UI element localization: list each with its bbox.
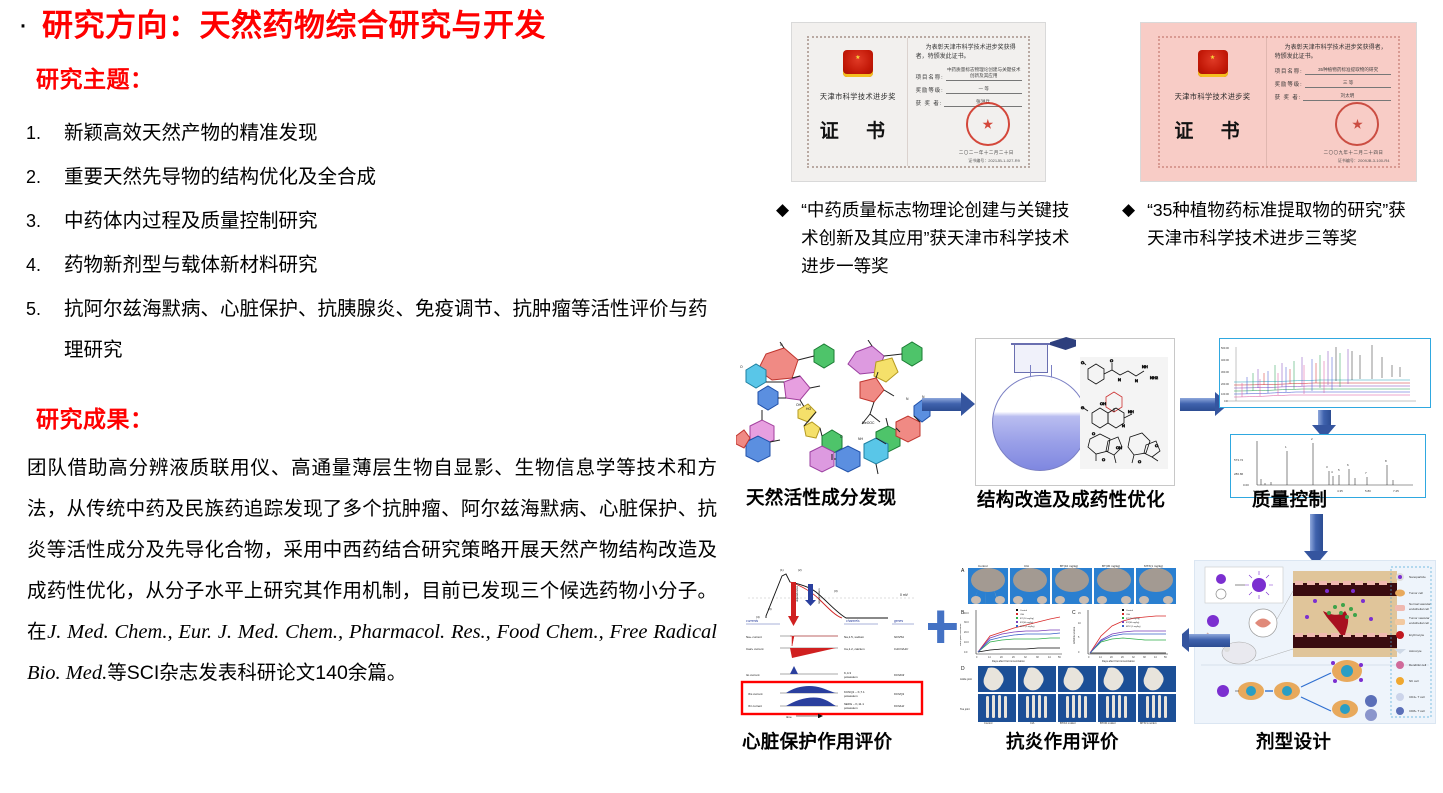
- field-value: 35种植物药标准提取物的研究: [1305, 67, 1392, 75]
- certificate-field: 获 奖 者: 张洪兵: [916, 99, 1022, 107]
- arrow-down-icon: [1318, 410, 1331, 426]
- svg-text:potassium: potassium: [844, 706, 858, 710]
- research-topics-heading: 研究主题：: [36, 60, 154, 94]
- svg-text:100.00: 100.00: [1221, 392, 1229, 396]
- list-item: 3. 中药体内过程及质量控制研究: [24, 201, 714, 242]
- certificate-header-text: 为表彰天津市科学技术进步奖获得者，特颁发此证书。: [916, 44, 1022, 62]
- list-item-label: 药物新剂型与载体新材料研究: [64, 245, 714, 286]
- cardiac-action-potential-graphic: 0 mV (1)(2)(0)(3)(4) depolarization repo…: [738, 562, 926, 718]
- svg-text:Control: Control: [978, 564, 988, 568]
- field-label: 获 奖 者:: [1275, 93, 1302, 101]
- svg-text:CIA: CIA: [1126, 613, 1130, 616]
- svg-text:14: 14: [988, 656, 991, 659]
- nanoparticle-delivery-graphic: NanoparticleTumor cell Normal vascularen…: [1195, 561, 1435, 723]
- svg-text:CIA: CIA: [1030, 721, 1035, 724]
- research-workflow-diagram: OOHO OHONH MeOOCNN 天然活性成分发现 ⇒: [732, 336, 1443, 786]
- svg-text:Control: Control: [984, 721, 993, 724]
- title-bullet-icon: ·: [18, 8, 28, 42]
- svg-text:0: 0: [1078, 651, 1080, 654]
- svg-text:MTX (1 mg/kg): MTX (1 mg/kg): [1020, 626, 1035, 628]
- svg-text:N: N: [1122, 423, 1125, 428]
- chromatogram-overlay-chart: 500.00400.00300.00200.00100.000.0: [1220, 339, 1429, 406]
- list-item-number: 5.: [24, 289, 64, 329]
- svg-text:500.00: 500.00: [1221, 346, 1229, 350]
- svg-text:Dendritic cell: Dendritic cell: [1409, 663, 1427, 667]
- svg-text:N: N: [1118, 377, 1121, 382]
- certificate-org-name: 天津市科学技术进步奖: [809, 92, 906, 102]
- svg-text:endothelial cell: endothelial cell: [1409, 607, 1429, 611]
- svg-text:56: 56: [1164, 656, 1167, 659]
- svg-text:0: 0: [976, 656, 978, 659]
- certificate-title-text: 证 书: [1160, 116, 1266, 143]
- svg-text:0: 0: [1088, 656, 1090, 659]
- chemical-structures-graphic: O O N N NH NH2 OH N O: [1080, 357, 1168, 469]
- field-value: 刘太明: [1303, 93, 1391, 101]
- certificate-caption-second: ◆ “35种植物药标准提取物的研究”获天津市科学技术进步三等奖: [1122, 196, 1422, 252]
- svg-text:BT(30 mg/kg): BT(30 mg/kg): [1020, 622, 1034, 624]
- page-title: 研究方向：天然药物综合研究与开发: [42, 8, 546, 44]
- award-certificate-third-prize: 天津市科学技术进步奖 证 书 为表彰天津市科学技术进步奖获得者，特颁发此证书。 …: [1140, 22, 1417, 182]
- official-seal-icon: [966, 102, 1010, 146]
- list-item: 2. 重要天然先导物的结构优化及全合成: [24, 157, 714, 198]
- research-results-paragraph: 团队借助高分辨液质联用仪、高通量薄层生物自显影、生物信息学等技术和方法，从传统中…: [27, 448, 717, 694]
- slide-root: · 研究方向：天然药物综合研究与开发 研究主题： 1. 新颖高效天然产物的精准发…: [0, 0, 1443, 793]
- svg-text:10: 10: [1078, 622, 1081, 625]
- svg-text:O: O: [840, 435, 843, 439]
- svg-text:Toe joint: Toe joint: [960, 707, 970, 711]
- svg-text:BT(10 mg/kg): BT(10 mg/kg): [1060, 564, 1078, 568]
- svg-text:MTX(1 mg/kg): MTX(1 mg/kg): [1144, 564, 1163, 568]
- svg-text:NH2: NH2: [1150, 375, 1159, 380]
- svg-text:32: 32: [1132, 656, 1135, 659]
- svg-text:BT (10 mg/kg): BT (10 mg/kg): [1126, 618, 1140, 620]
- svg-text:Control: Control: [1126, 609, 1134, 612]
- svg-text:(2): (2): [798, 568, 802, 572]
- svg-text:currents: currents: [746, 619, 759, 623]
- certificate-field: 获 奖 者: 刘太明: [1275, 93, 1392, 101]
- svg-text:Na,1.5, sodium: Na,1.5, sodium: [844, 635, 865, 639]
- svg-text:repolarization: repolarization: [817, 588, 821, 604]
- svg-text:O: O: [1092, 431, 1095, 436]
- svg-text:BT(10 mg/kg): BT(10 mg/kg): [1060, 721, 1076, 724]
- field-label: 项目名称:: [916, 73, 944, 81]
- list-item: 1. 新颖高效天然产物的精准发现: [24, 113, 714, 154]
- svg-text:6: 6: [1347, 463, 1349, 467]
- svg-text:5.80: 5.80: [1365, 489, 1371, 493]
- svg-text:CIA: CIA: [1020, 613, 1024, 616]
- svg-text:7: 7: [1365, 471, 1367, 475]
- certificate-field: 项目名称: 中药质量标志物理论创建与关键技术创新及其应用: [916, 67, 1022, 81]
- certificate-number: 证书编号：2021JB-1-027-R9: [968, 158, 1020, 164]
- svg-text:NH: NH: [1142, 364, 1148, 369]
- svg-text:KCND3: KCND3: [894, 673, 905, 677]
- anti-inflammatory-evaluation-panel: A: [960, 564, 1182, 724]
- svg-text:7.25: 7.25: [1393, 489, 1399, 493]
- svg-text:O: O: [1081, 360, 1084, 365]
- svg-text:3: 3: [1326, 465, 1328, 469]
- certificate-caption-first: ◆ “中药质量标志物理论创建与关键技术创新及其应用”获天津市科学技术进步一等奖: [776, 196, 1081, 280]
- anti-inflammatory-graphic: A: [960, 564, 1180, 724]
- svg-text:D: D: [961, 666, 965, 672]
- molecular-structures-graphic: OOHO OHONH MeOOCNN: [736, 340, 954, 482]
- research-topics-list: 1. 新颖高效天然产物的精准发现 2. 重要天然先导物的结构优化及全合成 3. …: [24, 113, 714, 374]
- svg-text:32: 32: [1024, 656, 1027, 659]
- label-natural-active-ingredient-discovery: 天然活性成分发现: [746, 484, 896, 510]
- svg-text:CD8+ T cell: CD8+ T cell: [1409, 709, 1425, 713]
- field-value: 一 等: [946, 86, 1022, 94]
- svg-text:time: time: [786, 715, 792, 718]
- certificate-field: 项目名称: 35种植物药标准提取物的研究: [1275, 67, 1392, 75]
- svg-text:MTX(1 mg/kg): MTX(1 mg/kg): [1140, 721, 1157, 724]
- svg-text:N: N: [1135, 378, 1138, 383]
- tlc-chromatogram-overlay-panel: 500.00400.00300.00200.00100.000.0: [1219, 338, 1431, 408]
- svg-text:400.00: 400.00: [1221, 358, 1229, 362]
- list-item-label: 新颖高效天然产物的精准发现: [64, 113, 714, 154]
- arrow-right-icon: [922, 398, 962, 411]
- svg-text:0.00: 0.00: [1243, 483, 1249, 487]
- svg-text:8: 8: [1385, 459, 1387, 463]
- svg-text:potassium: potassium: [844, 694, 858, 698]
- svg-text:Days after first immunization: Days after first immunization: [992, 659, 1025, 663]
- svg-text:Hind paw thickness: Hind paw thickness: [960, 623, 962, 646]
- svg-text:OH: OH: [1100, 401, 1106, 406]
- svg-text:26: 26: [1012, 656, 1015, 659]
- round-flask-icon: [992, 375, 1088, 471]
- certificate-org-name: 天津市科学技术进步奖: [1160, 92, 1266, 102]
- svg-text:44: 44: [1048, 656, 1051, 659]
- svg-text:BT(30 mg/kg): BT(30 mg/kg): [1126, 622, 1140, 624]
- svg-text:BT(30 mg/kg): BT(30 mg/kg): [1100, 721, 1116, 724]
- svg-text:(3): (3): [834, 589, 838, 593]
- svg-text:depolarization: depolarization: [795, 585, 799, 602]
- svg-text:O: O: [1081, 405, 1084, 410]
- dosage-form-design-panel: NanoparticleTumor cell Normal vascularen…: [1194, 560, 1436, 724]
- svg-text:Na+ current: Na+ current: [746, 635, 762, 639]
- svg-text:O: O: [1110, 358, 1113, 363]
- national-emblem-icon: [843, 50, 873, 77]
- dropper-icon: [1050, 337, 1076, 350]
- svg-text:IKs current: IKs current: [748, 692, 763, 696]
- label-quality-control: 质量控制: [1252, 486, 1327, 512]
- svg-text:genes: genes: [894, 619, 904, 623]
- certificate-number: 证书编号：2009JB-3-100-R4: [1338, 158, 1390, 164]
- svg-text:NH: NH: [1128, 409, 1134, 414]
- svg-text:Days after first immunization: Days after first immunization: [1102, 659, 1135, 663]
- arrow-left-icon: [1188, 634, 1230, 647]
- svg-text:44: 44: [1154, 656, 1157, 659]
- list-item-number: 1.: [24, 113, 64, 153]
- cardioprotection-evaluation-panel: 0 mV (1)(2)(0)(3)(4) depolarization repo…: [738, 562, 928, 720]
- svg-text:N: N: [906, 397, 909, 401]
- svg-text:BT(30 mg/kg): BT(30 mg/kg): [1102, 564, 1120, 568]
- svg-text:26: 26: [1121, 656, 1124, 659]
- svg-text:NH: NH: [858, 437, 863, 441]
- svg-text:40.0: 40.0: [964, 612, 969, 615]
- svg-text:channels: channels: [846, 619, 860, 623]
- svg-text:(0): (0): [768, 607, 772, 611]
- svg-text:300.00: 300.00: [1221, 370, 1229, 374]
- label-cardioprotection-evaluation: 心脏保护作用评价: [742, 728, 892, 754]
- svg-text:O: O: [740, 365, 743, 369]
- list-item-number: 3.: [24, 201, 64, 241]
- field-label: 获 奖 者:: [916, 99, 943, 107]
- label-structure-modification-optimization: 结构改造及成药性优化: [977, 486, 1165, 512]
- list-item: 5. 抗阿尔兹海默病、心脏保护、抗胰腺炎、免疫调节、抗肿瘤等活性评价与药理研究: [24, 289, 714, 371]
- svg-text:14: 14: [1099, 656, 1102, 659]
- slide-title-row: · 研究方向：天然药物综合研究与开发: [18, 8, 546, 44]
- svg-text:5: 5: [1338, 468, 1340, 472]
- field-label: 项目名称:: [1275, 67, 1303, 75]
- svg-text:0.0: 0.0: [1224, 399, 1228, 403]
- certificate-title-text: 证 书: [809, 116, 906, 143]
- certificate-date: 二〇〇九年十二月二十四日: [1324, 150, 1384, 156]
- list-item-label: 重要天然先导物的结构优化及全合成: [64, 157, 714, 198]
- svg-text:20.0: 20.0: [964, 631, 969, 634]
- svg-text:OH: OH: [1116, 445, 1122, 450]
- svg-text:IKr current: IKr current: [748, 704, 762, 708]
- svg-text:0.0: 0.0: [964, 651, 968, 654]
- svg-text:C: C: [1072, 610, 1076, 616]
- svg-text:286.86: 286.86: [1234, 472, 1244, 476]
- svg-text:NK cell: NK cell: [1409, 679, 1419, 683]
- caption-text: “35种植物药标准提取物的研究”获天津市科学技术进步三等奖: [1147, 196, 1422, 252]
- certificate-header-text: 为表彰天津市科学技术进步奖获得者，特颁发此证书。: [1275, 44, 1392, 62]
- svg-text:SCN5A: SCN5A: [894, 635, 904, 639]
- svg-text:56: 56: [1058, 656, 1061, 659]
- svg-text:20: 20: [1000, 656, 1003, 659]
- svg-text:1: 1: [1285, 445, 1287, 449]
- results-text-part2: 等SCI杂志发表科研论文140余篇。: [107, 662, 406, 684]
- svg-text:573.72: 573.72: [1234, 458, 1244, 462]
- svg-text:4.35: 4.35: [1337, 489, 1343, 493]
- svg-text:20: 20: [1110, 656, 1113, 659]
- svg-text:Ito current: Ito current: [746, 673, 760, 677]
- svg-text:0 mV: 0 mV: [900, 593, 909, 597]
- field-label: 奖励等级:: [916, 86, 944, 94]
- national-emblem-icon: [1198, 50, 1228, 77]
- svg-text:Tumor cell: Tumor cell: [1409, 591, 1423, 595]
- svg-text:KCNH2: KCNH2: [894, 704, 905, 708]
- list-item-number: 2.: [24, 157, 64, 197]
- svg-text:KCNQ1: KCNQ1: [894, 692, 905, 696]
- svg-text:BT (10 mg/kg): BT (10 mg/kg): [1020, 618, 1034, 620]
- research-results-heading: 研究成果：: [36, 400, 154, 434]
- svg-text:CACNA1C: CACNA1C: [894, 647, 909, 651]
- svg-text:MTX (1 mg/kg): MTX (1 mg/kg): [1126, 626, 1141, 628]
- chemical-structures-box: O O N N NH NH2 OH N O: [1080, 357, 1168, 469]
- svg-text:CD4+ T cell: CD4+ T cell: [1409, 695, 1425, 699]
- certificate-field: 奖励等级: 一 等: [916, 86, 1022, 94]
- svg-text:38: 38: [1036, 656, 1039, 659]
- svg-text:5: 5: [1078, 636, 1080, 639]
- svg-text:200.00: 200.00: [1221, 382, 1229, 386]
- certificates-row: 天津市科学技术进步奖 证 书 为表彰天津市科学技术进步奖获得者，特颁发此证书。 …: [732, 22, 1443, 192]
- official-seal-icon: [1335, 102, 1379, 146]
- svg-text:Ca,1.2, calcium: Ca,1.2, calcium: [844, 647, 865, 651]
- svg-text:O: O: [780, 343, 783, 347]
- svg-text:potassium: potassium: [844, 675, 858, 679]
- natural-active-ingredient-discovery-panel: OOHO OHONH MeOOCNN: [736, 340, 954, 482]
- svg-text:Control: Control: [1020, 609, 1028, 612]
- svg-text:Ca2+ current: Ca2+ current: [746, 647, 764, 651]
- svg-text:endothelial cell: endothelial cell: [1409, 621, 1429, 625]
- svg-text:OH: OH: [796, 403, 802, 407]
- svg-text:Erythrocyte: Erythrocyte: [1409, 633, 1425, 637]
- svg-text:Astrocyte: Astrocyte: [1409, 649, 1422, 653]
- svg-text:38: 38: [1143, 656, 1146, 659]
- diamond-bullet-icon: ◆: [776, 196, 789, 224]
- svg-text:2: 2: [1311, 437, 1313, 441]
- svg-text:A: A: [961, 568, 965, 574]
- svg-text:O: O: [1102, 457, 1105, 462]
- diamond-bullet-icon: ◆: [1122, 196, 1135, 224]
- structure-modification-optimization-panel: ⇒ O O N N NH NH2: [975, 338, 1175, 486]
- arrow-down-icon: [1310, 514, 1323, 552]
- list-item-label: 抗阿尔兹海默病、心脏保护、抗胰腺炎、免疫调节、抗肿瘤等活性评价与药理研究: [64, 289, 714, 371]
- field-value: 中药质量标志物理论创建与关键技术创新及其应用: [946, 67, 1022, 81]
- svg-text:CIA: CIA: [1024, 564, 1029, 568]
- svg-text:Ankle joint: Ankle joint: [960, 677, 972, 681]
- field-label: 奖励等级:: [1275, 80, 1303, 88]
- list-item-label: 中药体内过程及质量控制研究: [64, 201, 714, 242]
- svg-text:Tumor vascular: Tumor vascular: [1409, 616, 1430, 620]
- svg-text:MeOOC: MeOOC: [862, 421, 875, 425]
- svg-text:30.0: 30.0: [964, 621, 969, 624]
- list-item: 4. 药物新剂型与载体新材料研究: [24, 245, 714, 286]
- caption-text: “中药质量标志物理论创建与关键技术创新及其应用”获天津市科学技术进步一等奖: [801, 196, 1081, 280]
- left-content-column: · 研究方向：天然药物综合研究与开发 研究主题： 1. 新颖高效天然产物的精准发…: [0, 0, 732, 793]
- certificate-date: 二〇二一年十二月二十日: [959, 150, 1014, 156]
- svg-text:Arthritis scores: Arthritis scores: [1072, 626, 1076, 644]
- svg-text:(1): (1): [780, 568, 784, 572]
- svg-text:Normal vascular: Normal vascular: [1409, 602, 1431, 606]
- svg-text:HO: HO: [806, 407, 811, 411]
- arrow-right-icon: [1180, 398, 1216, 411]
- label-dosage-form-design: 剂型设计: [1256, 728, 1331, 754]
- list-item-number: 4.: [24, 245, 64, 285]
- svg-text:15: 15: [1078, 612, 1081, 615]
- svg-text:4: 4: [1331, 470, 1333, 474]
- certificate-field: 奖励等级: 三 等: [1275, 80, 1392, 88]
- svg-text:10.0: 10.0: [964, 641, 969, 644]
- right-content-column: 天津市科学技术进步奖 证 书 为表彰天津市科学技术进步奖获得者，特颁发此证书。 …: [732, 0, 1443, 793]
- field-value: 三 等: [1305, 80, 1392, 88]
- results-text-part1: 团队借助高分辨液质联用仪、高通量薄层生物自显影、生物信息学等技术和方法，从传统中…: [27, 457, 717, 643]
- svg-text:Nanoparticle: Nanoparticle: [1409, 575, 1426, 579]
- svg-text:O: O: [1155, 443, 1158, 448]
- svg-text:O: O: [1138, 459, 1141, 464]
- label-anti-inflammatory-evaluation: 抗炎作用评价: [1006, 728, 1119, 754]
- award-certificate-first-prize: 天津市科学技术进步奖 证 书 为表彰天津市科学技术进步奖获得者，特颁发此证书。 …: [791, 22, 1046, 182]
